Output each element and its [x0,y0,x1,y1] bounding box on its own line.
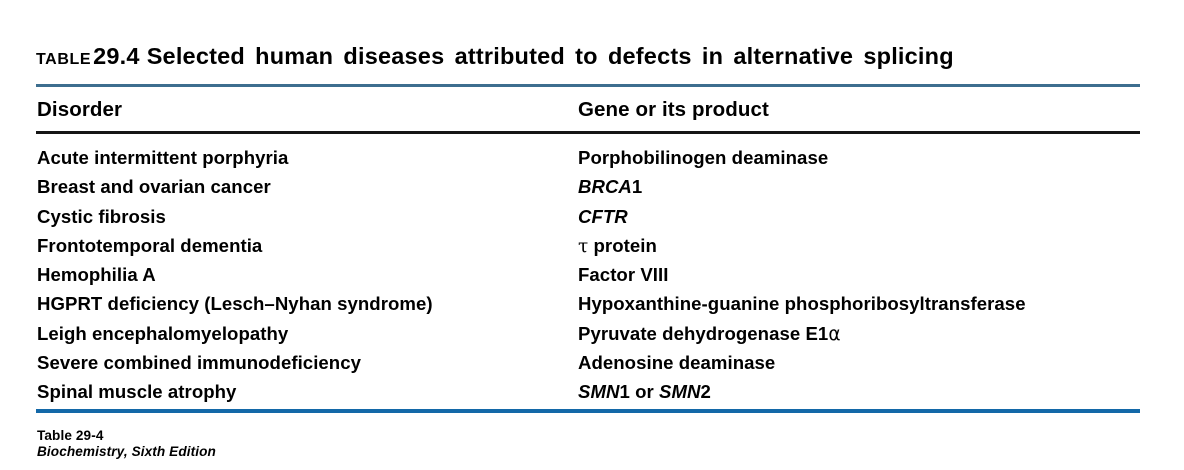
cell-gene: CFTR [578,206,628,228]
table-row: Severe combined immunodeficiency Adenosi… [0,352,1184,381]
table-title-label: Table [36,43,91,69]
cell-disorder: Acute intermittent porphyria [37,147,288,169]
table-row: Frontotemporal dementia τ protein [0,235,1184,264]
cell-gene: Factor VIII [578,264,668,286]
divider-header-rule [36,131,1140,134]
cell-gene: Pyruvate dehydrogenase E1α [578,323,841,346]
cell-disorder: Leigh encephalomyelopathy [37,323,288,345]
cell-gene: τ protein [578,235,657,258]
cell-disorder: Frontotemporal dementia [37,235,262,257]
table-title-text: Selected human diseases attributed to de… [147,43,954,69]
caption-table-number: Table 29-4 [37,428,637,444]
table-row: Leigh encephalomyelopathy Pyruvate dehyd… [0,323,1184,352]
figure-caption: Table 29-4 Biochemistry, Sixth Edition [37,428,637,460]
cell-disorder: Spinal muscle atrophy [37,381,236,403]
cell-disorder: HGPRT deficiency (Lesch–Nyhan syndrome) [37,293,433,315]
cell-gene: BRCA1 [578,176,642,198]
cell-disorder: Breast and ovarian cancer [37,176,271,198]
column-header-gene: Gene or its product [578,98,769,122]
table-row: Hemophilia A Factor VIII [0,264,1184,293]
page-title: Table29.4Selected human diseases attribu… [36,43,1146,70]
table-row: HGPRT deficiency (Lesch–Nyhan syndrome) … [0,293,1184,322]
table-row: Breast and ovarian cancer BRCA1 [0,176,1184,205]
divider-top-rule [36,84,1140,87]
cell-disorder: Severe combined immunodeficiency [37,352,361,374]
cell-disorder: Hemophilia A [37,264,156,286]
table-title-number: 29.4 [93,43,140,69]
table-header-row: Disorder Gene or its product [0,98,1184,126]
table-row: Acute intermittent porphyria Porphobilin… [0,147,1184,176]
table-body: Acute intermittent porphyria Porphobilin… [0,147,1184,411]
table-row: Spinal muscle atrophy SMN1 or SMN2 [0,381,1184,410]
column-header-disorder: Disorder [37,98,122,122]
table-row: Cystic fibrosis CFTR [0,206,1184,235]
cell-gene: Adenosine deaminase [578,352,775,374]
cell-gene: SMN1 or SMN2 [578,381,711,403]
cell-gene: Porphobilinogen deaminase [578,147,828,169]
cell-gene: Hypoxanthine-guanine phosphoribosyltrans… [578,293,1026,315]
table-figure: Table29.4Selected human diseases attribu… [0,0,1184,470]
caption-source: Biochemistry, Sixth Edition [37,444,637,460]
divider-bottom-rule [36,409,1140,413]
cell-disorder: Cystic fibrosis [37,206,166,228]
